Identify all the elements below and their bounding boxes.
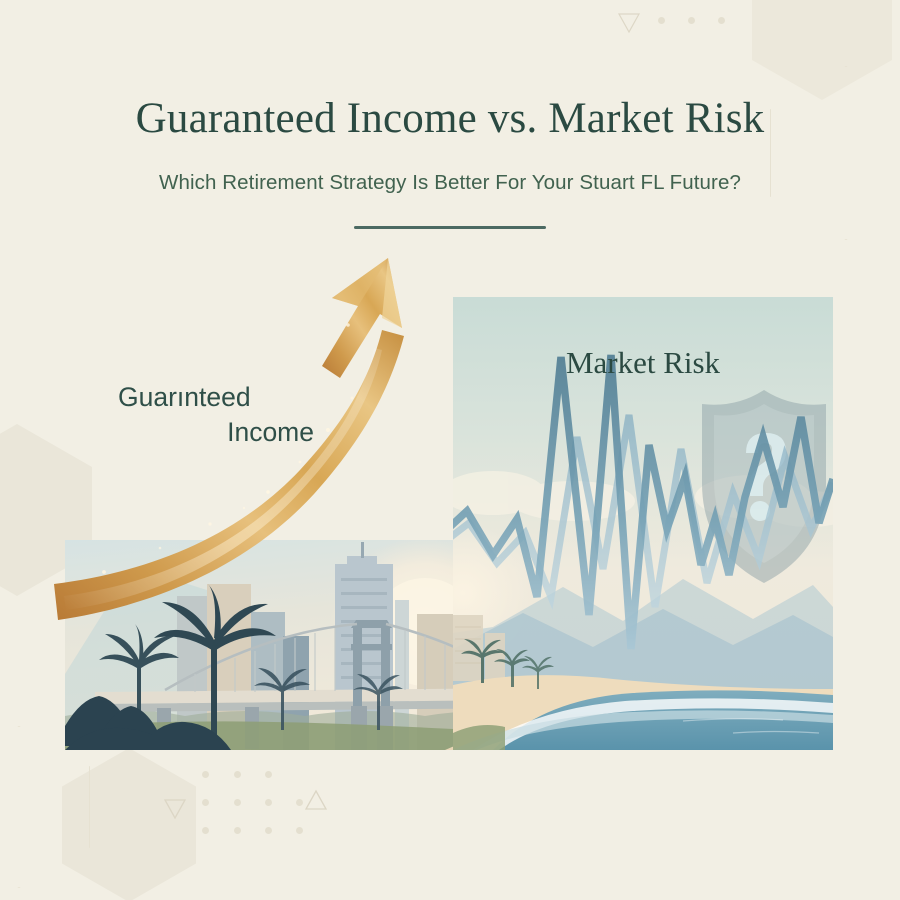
growth-arrow-icon xyxy=(0,0,900,900)
guaranteed-income-label: Guarınteed Income xyxy=(118,380,328,450)
guaranteed-income-line1: Guarınteed xyxy=(118,380,328,415)
poster-canvas: Guaranteed Income vs. Market Risk Which … xyxy=(0,0,900,900)
guaranteed-income-line2: Income xyxy=(118,415,328,450)
market-risk-label: Market Risk xyxy=(453,345,833,381)
